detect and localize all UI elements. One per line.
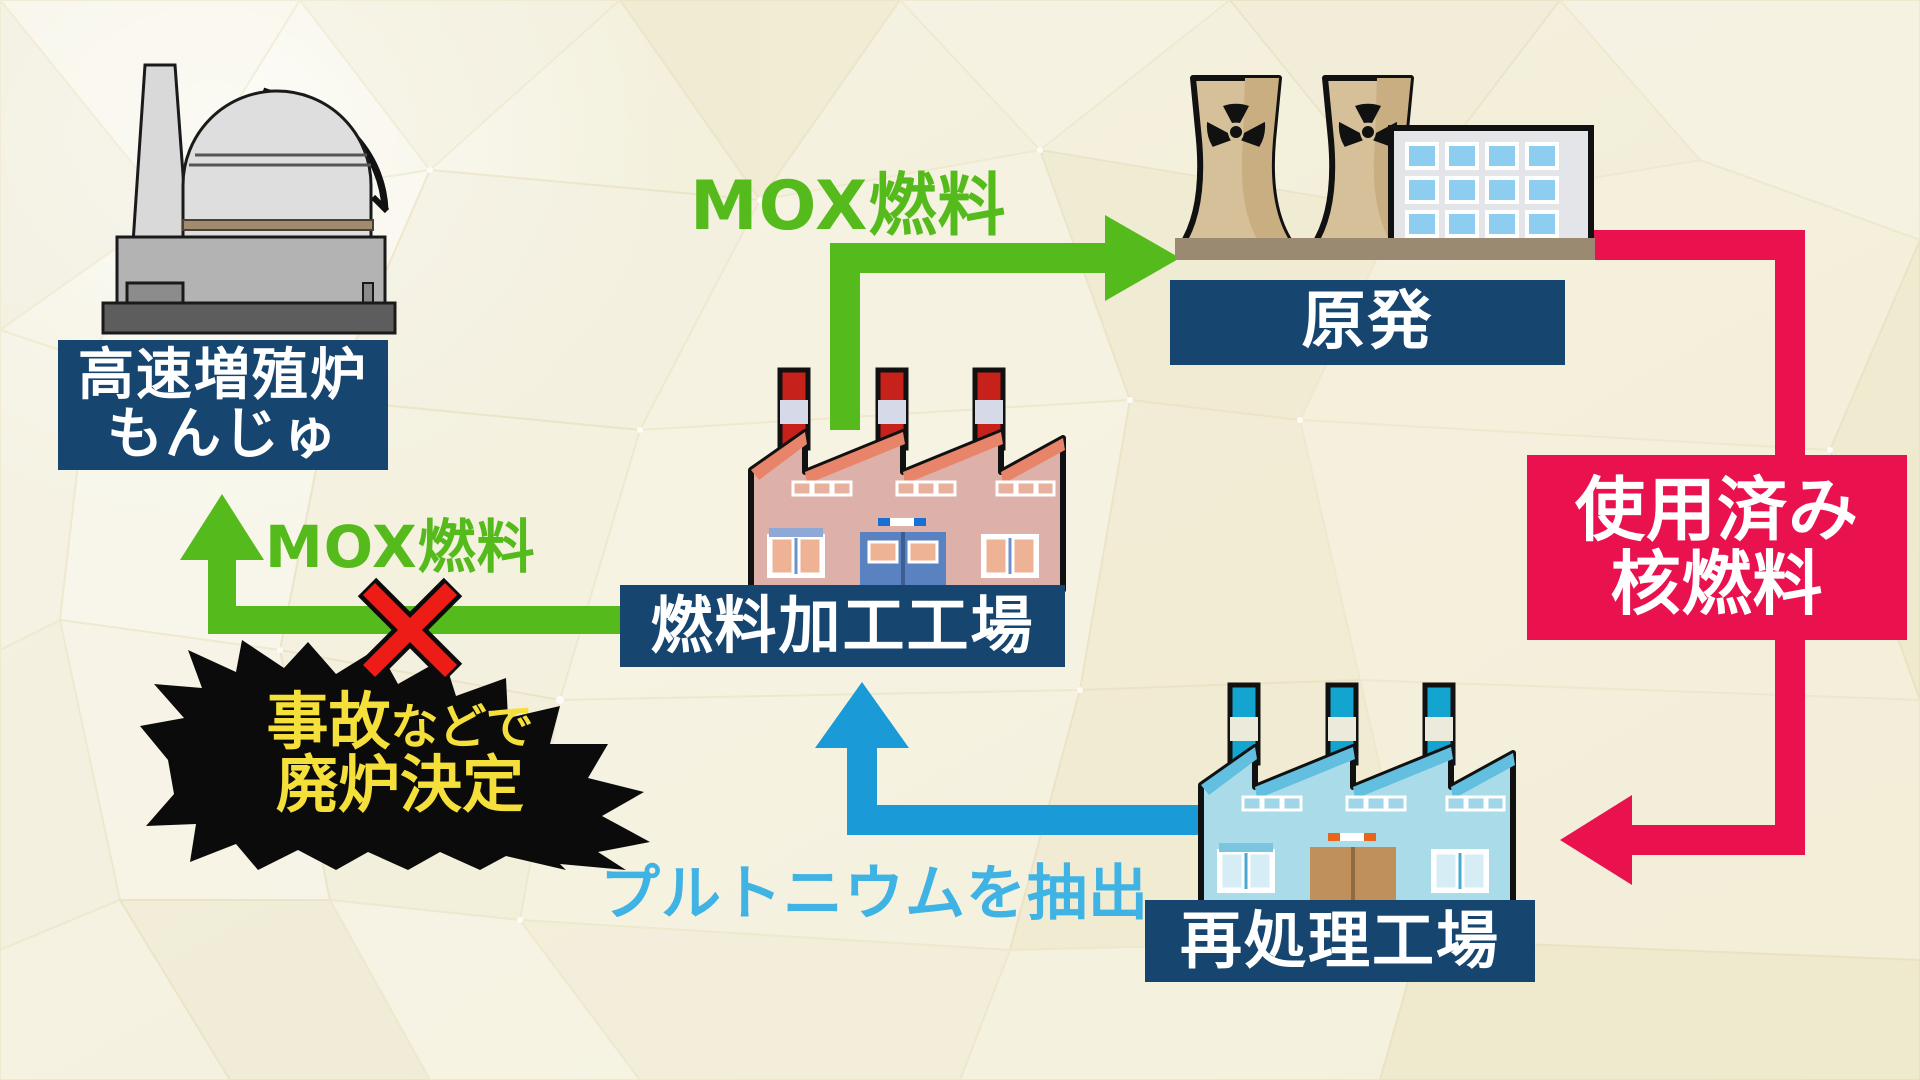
monju-label-line1: 高速増殖炉 bbox=[78, 346, 368, 405]
burst-line1-sub: などで bbox=[390, 699, 533, 755]
npp-label: 原発 bbox=[1302, 289, 1434, 357]
fuel-plant-label: 燃料加工工場 bbox=[650, 593, 1034, 659]
monju-reactor-illustration bbox=[55, 25, 455, 345]
flow-label-plutonium: プルトニウムを抽出 bbox=[600, 845, 1149, 932]
flow-label-mox-to-npp: MOX燃料 bbox=[690, 150, 1006, 249]
spent-fuel-line2: 核燃料 bbox=[1611, 548, 1824, 622]
shutdown-burst-text: 事故などで 廃炉決定 bbox=[155, 690, 645, 816]
reprocessing-plant-label: 再処理工場 bbox=[1180, 908, 1500, 974]
fuel-plant-illustration bbox=[745, 360, 1070, 595]
nuclear-power-plant-illustration bbox=[1175, 70, 1595, 270]
spent-fuel-line1: 使用済み bbox=[1575, 474, 1859, 548]
arrow-plutonium-to-fuel-plant bbox=[815, 682, 1200, 820]
burst-line1-main: 事故 bbox=[266, 685, 390, 758]
burst-line2: 廃炉決定 bbox=[155, 753, 645, 816]
red-x-mark-icon bbox=[345, 565, 475, 695]
flow-label-spent-fuel[interactable]: 使用済み 核燃料 bbox=[1527, 455, 1907, 640]
monju-label-line2: もんじゅ bbox=[107, 405, 339, 464]
node-label-npp[interactable]: 原発 bbox=[1170, 280, 1565, 365]
diagram-canvas: 高速増殖炉 もんじゅ MOX燃料 事故などで 廃炉決定 bbox=[0, 0, 1920, 1080]
node-label-reprocessing-plant[interactable]: 再処理工場 bbox=[1145, 900, 1535, 982]
node-label-monju[interactable]: 高速増殖炉 もんじゅ bbox=[58, 340, 388, 470]
node-label-fuel-plant[interactable]: 燃料加工工場 bbox=[620, 585, 1065, 667]
reprocessing-plant-illustration bbox=[1195, 675, 1520, 910]
